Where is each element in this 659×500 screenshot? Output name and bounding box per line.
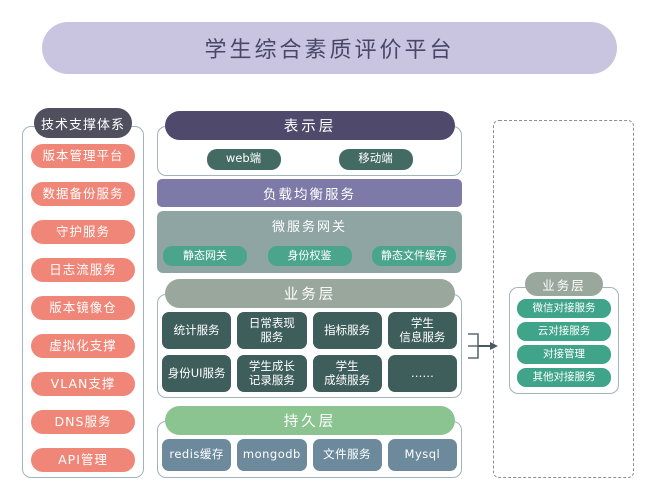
business-card[interactable]: 身份UI服务: [162, 355, 231, 392]
presentation-layer-items: web端 移动端: [157, 145, 462, 173]
business-card[interactable]: 统计服务: [162, 312, 231, 349]
external-item-other[interactable]: 其他对接服务: [517, 368, 611, 387]
external-item-wechat[interactable]: 微信对接服务: [517, 299, 611, 318]
business-card[interactable]: 学生信息服务: [388, 312, 457, 349]
business-card[interactable]: 学生成绩服务: [313, 355, 382, 392]
external-item-cloud[interactable]: 云对接服务: [517, 322, 611, 341]
persistence-layer-grid: redis缓存 mongodb 文件服务 Mysql: [162, 439, 457, 471]
persistence-card[interactable]: redis缓存: [162, 439, 231, 471]
tech-support-item[interactable]: API管理: [31, 448, 135, 472]
gateway-items: 静态网关 身份权鉴 静态文件缓存: [163, 245, 456, 267]
tech-support-item[interactable]: DNS服务: [31, 410, 135, 434]
persistence-card[interactable]: Mysql: [388, 439, 457, 471]
page-title-banner: 学生综合素质评价平台: [42, 22, 617, 74]
tech-support-header: 技术支撑体系: [34, 108, 132, 138]
tech-support-item[interactable]: VLAN支撑: [31, 372, 135, 396]
tech-support-item[interactable]: 日志流服务: [31, 258, 135, 282]
page-title: 学生综合素质评价平台: [204, 32, 454, 64]
external-business-list: 微信对接服务 云对接服务 对接管理 其他对接服务: [513, 296, 615, 390]
presentation-item-mobile[interactable]: 移动端: [339, 149, 413, 170]
connector-arrow-icon: [466, 332, 500, 360]
tech-support-item[interactable]: 守护服务: [31, 220, 135, 244]
tech-support-item[interactable]: 数据备份服务: [31, 182, 135, 206]
external-business-header: 业务层: [525, 272, 603, 296]
persistence-layer-header: 持久层: [165, 406, 455, 435]
gateway-title: 微服务网关: [157, 215, 462, 235]
presentation-layer-header: 表示层: [165, 111, 455, 140]
presentation-item-web[interactable]: web端: [207, 149, 281, 170]
business-card[interactable]: 指标服务: [313, 312, 382, 349]
business-card[interactable]: ……: [388, 355, 457, 392]
persistence-card[interactable]: mongodb: [237, 439, 306, 471]
tech-support-item[interactable]: 虚拟化支撑: [31, 334, 135, 358]
tech-support-item[interactable]: 版本管理平台: [31, 144, 135, 168]
business-layer-grid: 统计服务 日常表现服务 指标服务 学生信息服务 身份UI服务 学生成长记录服务 …: [162, 312, 457, 392]
business-card[interactable]: 学生成长记录服务: [237, 355, 306, 392]
gateway-item-filecache[interactable]: 静态文件缓存: [372, 246, 456, 266]
business-layer-header: 业务层: [165, 279, 455, 308]
gateway-item-static[interactable]: 静态网关: [163, 246, 247, 266]
tech-support-item[interactable]: 版本镜像仓: [31, 296, 135, 320]
tech-support-list: 版本管理平台 数据备份服务 守护服务 日志流服务 版本镜像仓 虚拟化支撑 VLA…: [22, 140, 144, 476]
business-card[interactable]: 日常表现服务: [237, 312, 306, 349]
load-balancer-bar[interactable]: 负载均衡服务: [157, 179, 462, 207]
persistence-card[interactable]: 文件服务: [313, 439, 382, 471]
external-item-manage[interactable]: 对接管理: [517, 345, 611, 364]
gateway-item-auth[interactable]: 身份权鉴: [268, 246, 352, 266]
